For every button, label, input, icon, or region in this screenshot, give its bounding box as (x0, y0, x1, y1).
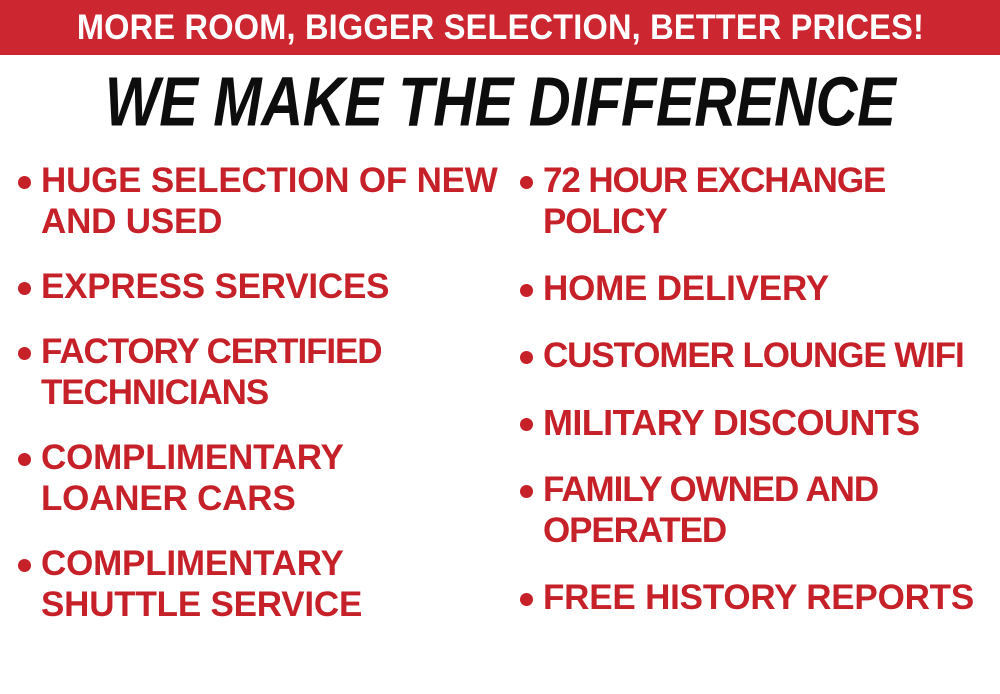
main-headline-text: WE MAKE THE DIFFERENCE (105, 66, 896, 136)
bullet-dot-icon (18, 347, 31, 360)
list-item-label: COMPLIMENTARY LOANER CARS (41, 437, 498, 519)
main-headline: WE MAKE THE DIFFERENCE (0, 66, 1000, 132)
bullet-dot-icon (18, 176, 31, 189)
top-banner: MORE ROOM, BIGGER SELECTION, BETTER PRIC… (0, 0, 1000, 55)
list-item-label: FREE HISTORY REPORTS (543, 577, 1000, 618)
banner-headline: MORE ROOM, BIGGER SELECTION, BETTER PRIC… (76, 10, 923, 45)
bullet-dot-icon (18, 453, 31, 466)
list-item: 72 HOUR EXCHANGE POLICY (520, 160, 1000, 242)
list-item-label: FAMILY OWNED AND OPERATED (543, 469, 1000, 551)
list-item: EXPRESS SERVICES (18, 266, 498, 307)
list-item-label: HOME DELIVERY (543, 268, 1000, 309)
list-item: COMPLIMENTARY LOANER CARS (18, 437, 498, 519)
benefits-column-left: HUGE SELECTION OF NEW AND USED EXPRESS S… (18, 160, 498, 649)
list-item-label: HUGE SELECTION OF NEW AND USED (41, 160, 498, 242)
list-item: FACTORY CERTIFIED TECHNICIANS (18, 331, 498, 413)
list-item-label: MILITARY DISCOUNTS (543, 402, 1000, 443)
list-item-label: CUSTOMER LOUNGE WIFI (543, 335, 1000, 376)
list-item: HOME DELIVERY (520, 268, 1000, 309)
list-item-label: 72 HOUR EXCHANGE POLICY (543, 160, 1000, 242)
bullet-dot-icon (520, 351, 533, 364)
list-item-label: COMPLIMENTARY SHUTTLE SERVICE (41, 543, 498, 625)
bullet-dot-icon (520, 485, 533, 498)
bullet-dot-icon (520, 593, 533, 606)
bullet-dot-icon (520, 176, 533, 189)
promotional-poster: MORE ROOM, BIGGER SELECTION, BETTER PRIC… (0, 0, 1000, 694)
list-item: HUGE SELECTION OF NEW AND USED (18, 160, 498, 242)
bullet-dot-icon (520, 284, 533, 297)
list-item-label: FACTORY CERTIFIED TECHNICIANS (41, 331, 498, 413)
list-item: MILITARY DISCOUNTS (520, 402, 1000, 443)
list-item: COMPLIMENTARY SHUTTLE SERVICE (18, 543, 498, 625)
list-item: FAMILY OWNED AND OPERATED (520, 469, 1000, 551)
bullet-dot-icon (520, 418, 533, 431)
list-item-label: EXPRESS SERVICES (41, 266, 498, 307)
bullet-dot-icon (18, 282, 31, 295)
list-item: FREE HISTORY REPORTS (520, 577, 1000, 618)
bullet-dot-icon (18, 559, 31, 572)
benefits-column-right: 72 HOUR EXCHANGE POLICY HOME DELIVERY CU… (520, 160, 1000, 644)
list-item: CUSTOMER LOUNGE WIFI (520, 335, 1000, 376)
